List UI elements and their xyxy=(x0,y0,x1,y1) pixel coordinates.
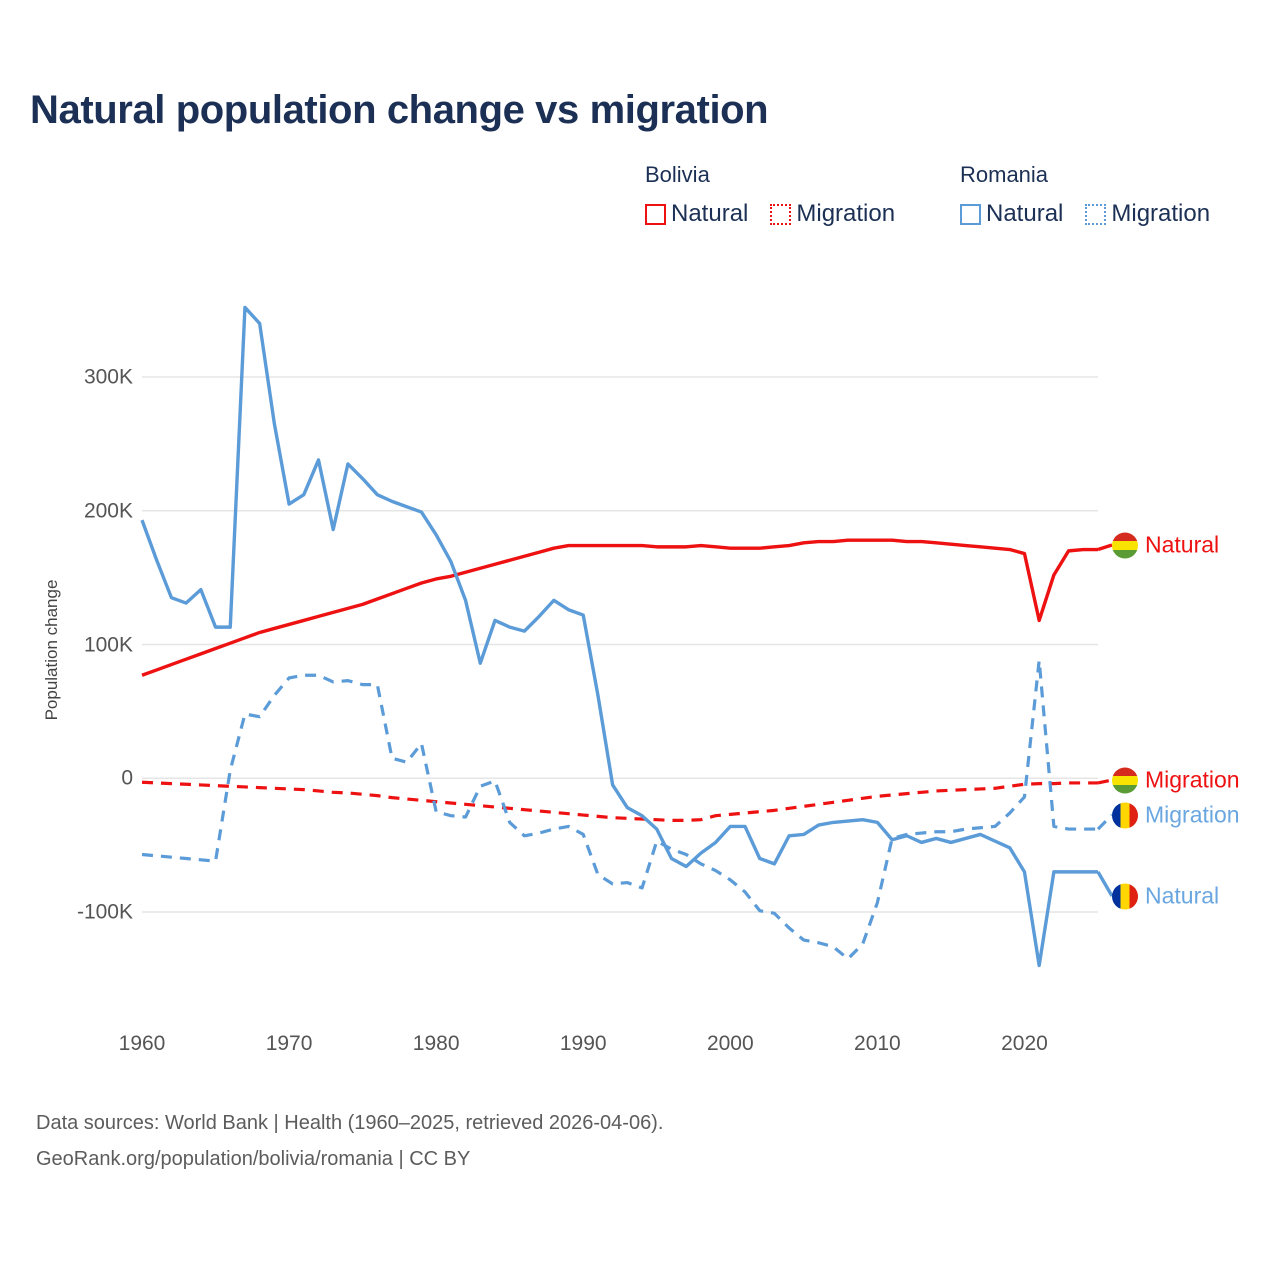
romania-flag-icon xyxy=(1112,802,1138,828)
end-connector xyxy=(1098,780,1112,783)
x-tick-label: 2010 xyxy=(854,1032,901,1056)
footer-attribution: GeoRank.org/population/bolivia/romania |… xyxy=(36,1148,470,1171)
y-tick-label: 200K xyxy=(84,500,133,521)
end-label-text: Natural xyxy=(1145,883,1219,910)
bolivia-flag-icon xyxy=(1112,767,1138,793)
series-line-romania-migration xyxy=(142,661,1098,959)
series-end-label: Migration xyxy=(1112,802,1240,829)
x-tick-label: 1970 xyxy=(266,1032,313,1056)
x-tick-label: 2000 xyxy=(707,1032,754,1056)
series-lines xyxy=(142,307,1098,965)
bolivia-flag-icon xyxy=(1112,532,1138,558)
series-end-label: Natural xyxy=(1112,883,1219,910)
plot-area xyxy=(0,0,1280,1280)
romania-flag-icon xyxy=(1112,883,1138,909)
x-tick-label: 1990 xyxy=(560,1032,607,1056)
end-label-text: Migration xyxy=(1145,767,1240,794)
end-connector xyxy=(1098,872,1112,896)
series-line-bolivia-migration xyxy=(142,782,1098,820)
end-connector xyxy=(1098,815,1112,829)
y-tick-label: 300K xyxy=(84,367,133,388)
series-end-label: Migration xyxy=(1112,767,1240,794)
y-tick-label: 100K xyxy=(84,634,133,655)
y-tick-label: 0 xyxy=(121,768,133,789)
end-label-text: Migration xyxy=(1145,802,1240,829)
x-tick-label: 1980 xyxy=(413,1032,460,1056)
x-tick-label: 2020 xyxy=(1001,1032,1048,1056)
end-connector xyxy=(1098,545,1112,550)
x-tick-label: 1960 xyxy=(119,1032,166,1056)
chart-root: Natural population change vs migration B… xyxy=(0,0,1280,1280)
series-line-bolivia-natural xyxy=(142,540,1098,675)
end-label-text: Natural xyxy=(1145,532,1219,559)
y-tick-label: -100K xyxy=(77,902,133,923)
footer-sources: Data sources: World Bank | Health (1960–… xyxy=(36,1112,663,1135)
series-line-romania-natural xyxy=(142,307,1098,965)
series-end-label: Natural xyxy=(1112,532,1219,559)
end-stubs xyxy=(1098,545,1112,896)
